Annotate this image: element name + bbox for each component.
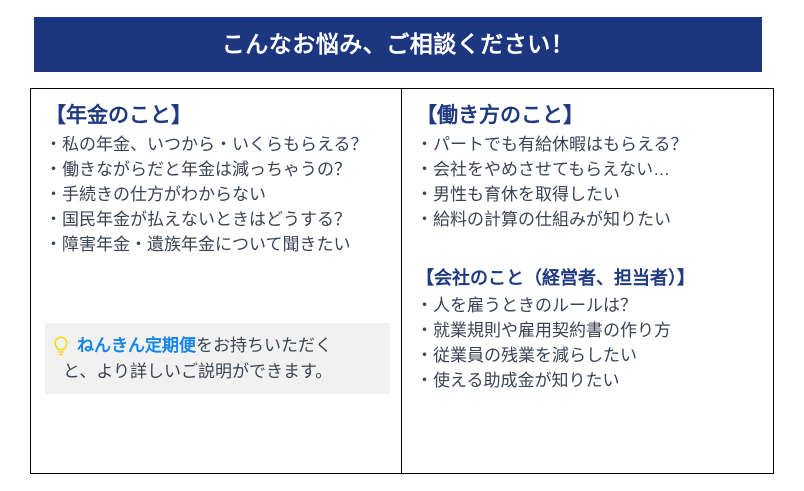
header-banner: こんなお悩み、ご相談ください！ <box>34 17 762 72</box>
list-item: ・私の年金、いつから・いくらもらえる？ <box>45 133 391 158</box>
list-item: ・障害年金・遺族年金について聞きたい <box>45 233 391 258</box>
list-item: ・国民年金が払えないときはどうする？ <box>45 208 391 233</box>
list-item: ・使える助成金が知りたい <box>416 369 763 394</box>
section-heading-work-style: 【働き方のこと】 <box>416 103 763 129</box>
list-item: ・男性も育休を取得したい <box>416 183 763 208</box>
section-heading-pension: 【年金のこと】 <box>45 103 391 129</box>
list-item: ・就業規則や雇用契約書の作り方 <box>416 319 763 344</box>
section-heading-company: 【会社のこと（経営者、担当者）】 <box>416 267 763 290</box>
note-text-tail: をお持ちいただく <box>196 336 332 355</box>
list-item: ・給料の計算の仕組みが知りたい <box>416 208 763 233</box>
note-first-line: ねんきん定期便をお持ちいただく <box>51 333 382 359</box>
list-item: ・パートでも有給休暇はもらえる？ <box>416 133 763 158</box>
note-text-line1: ねんきん定期便をお持ちいただく <box>77 333 332 359</box>
pension-note-box: ねんきん定期便をお持ちいただく と、より詳しいご説明ができます。 <box>45 323 390 395</box>
banner-title: こんなお悩み、ご相談ください！ <box>222 33 575 56</box>
lightbulb-icon <box>51 335 71 359</box>
column-work-and-company: 【働き方のこと】 ・パートでも有給休暇はもらえる？ ・会社をやめさせてもらえない… <box>402 89 773 473</box>
list-item: ・働きながらだと年金は減っちゃうの？ <box>45 158 391 183</box>
list-item: ・手続きの仕方がわからない <box>45 183 391 208</box>
note-text-line2: と、より詳しいご説明ができます。 <box>51 359 382 385</box>
topics-table: 【年金のこと】 ・私の年金、いつから・いくらもらえる？ ・働きながらだと年金は減… <box>30 88 774 474</box>
column-pension: 【年金のこと】 ・私の年金、いつから・いくらもらえる？ ・働きながらだと年金は減… <box>31 89 402 473</box>
list-item: ・会社をやめさせてもらえない… <box>416 158 763 183</box>
list-item: ・従業員の残業を減らしたい <box>416 344 763 369</box>
bullet-list-pension: ・私の年金、いつから・いくらもらえる？ ・働きながらだと年金は減っちゃうの？ ・… <box>45 133 391 258</box>
bullet-list-work-style: ・パートでも有給休暇はもらえる？ ・会社をやめさせてもらえない… ・男性も育休を… <box>416 133 763 233</box>
section-spacer <box>416 233 763 267</box>
bullet-list-company: ・人を雇うときのルールは？ ・就業規則や雇用契約書の作り方 ・従業員の残業を減ら… <box>416 294 763 394</box>
note-highlight: ねんきん定期便 <box>77 336 196 355</box>
list-item: ・人を雇うときのルールは？ <box>416 294 763 319</box>
